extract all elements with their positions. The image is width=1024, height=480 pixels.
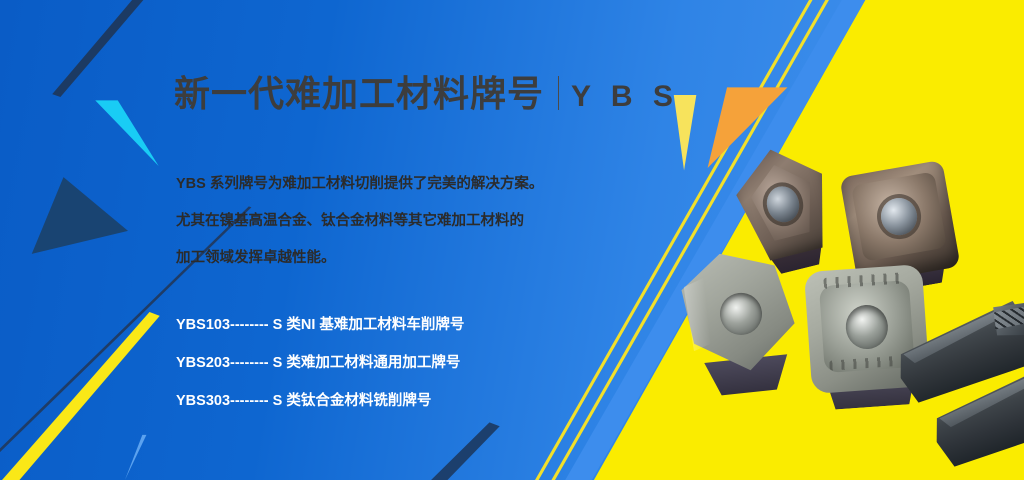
product-image-group [700,140,1024,460]
round-pentagon-milling-insert [676,246,804,381]
product-banner: 新一代难加工材料牌号 Y B S YBS 系列牌号为难加工材料切削提供了完美的解… [0,0,1024,480]
headline-chinese: 新一代难加工材料牌号 [174,76,544,112]
description-line: YBS 系列牌号为难加工材料切削提供了完美的解决方案。 [176,166,543,203]
headline-series: Y B S [571,80,679,114]
banner-text-content: 新一代难加工材料牌号 Y B S YBS 系列牌号为难加工材料切削提供了完美的解… [174,0,644,480]
headline-separator [558,76,559,110]
description-block: YBS 系列牌号为难加工材料切削提供了完美的解决方案。 尤其在镍基高温合金、钛合… [176,166,543,277]
model-list-item: YBS203-------- S 类难加工材料通用加工牌号 [176,344,464,382]
description-line: 加工领域发挥卓越性能。 [176,240,543,277]
page-title: 新一代难加工材料牌号 Y B S [174,72,679,114]
model-list-item: YBS103-------- S 类NI 基难加工材料车削牌号 [176,306,464,344]
model-list: YBS103-------- S 类NI 基难加工材料车削牌号 YBS203--… [176,306,464,420]
model-list-item: YBS303-------- S 类钛合金材料铣削牌号 [176,382,464,420]
description-line: 尤其在镍基高温合金、钛合金材料等其它难加工材料的 [176,203,543,240]
